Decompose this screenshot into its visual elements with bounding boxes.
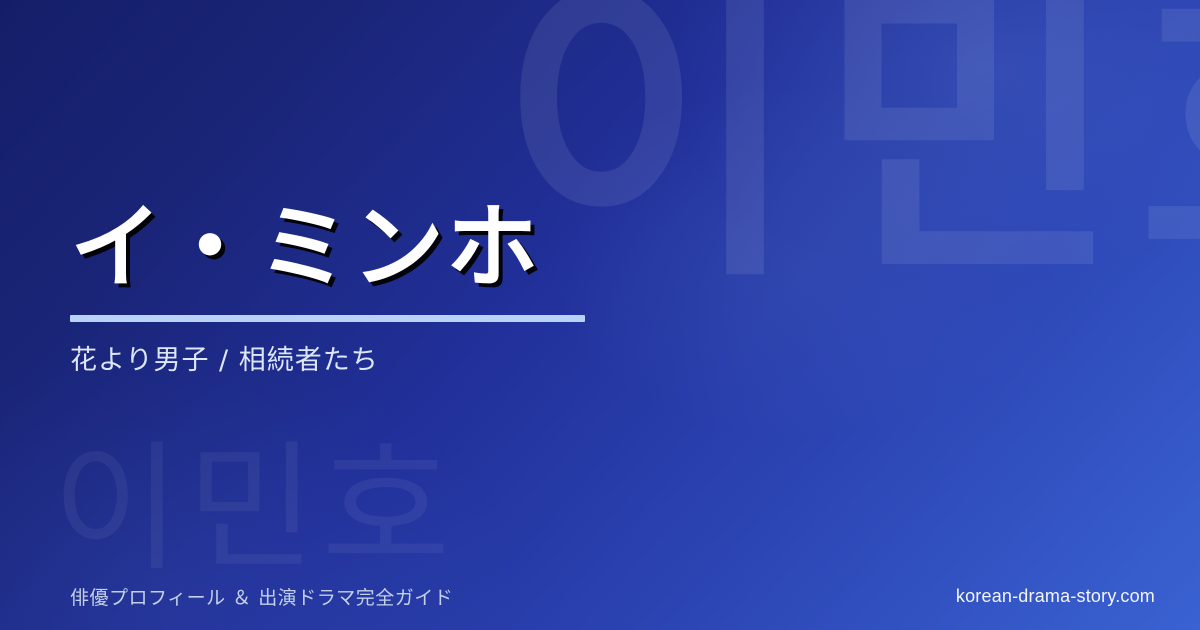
main-content: イ・ミンホ 花より男子 / 相続者たち xyxy=(70,196,730,377)
title-underline-rule xyxy=(70,315,585,322)
watermark-hangul-bottom: 이민호 xyxy=(52,440,456,580)
footer-tagline: 俳優プロフィール ＆ 出演ドラマ完全ガイド xyxy=(70,583,453,610)
subtitle-drama-list: 花より男子 / 相続者たち xyxy=(70,338,730,377)
social-share-card: 이민호 이민호 イ・ミンホ 花より男子 / 相続者たち 俳優プロフィール ＆ 出… xyxy=(0,0,1200,630)
page-title: イ・ミンホ xyxy=(70,196,730,299)
footer-site-url: korean-drama-story.com xyxy=(956,586,1155,607)
footer: 俳優プロフィール ＆ 出演ドラマ完全ガイド korean-drama-story… xyxy=(0,582,1200,610)
background-glow-top-right xyxy=(670,0,1200,280)
